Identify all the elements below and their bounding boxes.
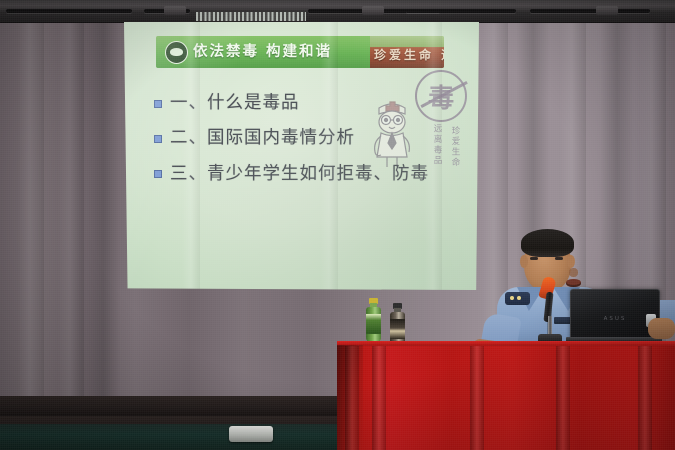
rail-tab — [362, 6, 384, 15]
slide-banner-slogan: 依法禁毒 构建和谐 — [193, 40, 332, 61]
slide-bullet-text: 三、青少年学生如何拒毒、防毒 — [170, 165, 429, 184]
lecture-photo-scene: 依法禁毒 构建和谐 珍爱生命 远离毒品 毒 珍爱生命 远离毒品 — [0, 0, 675, 450]
cloth-drape — [638, 346, 652, 450]
second-person-hand — [648, 318, 675, 339]
rail-tab — [164, 6, 186, 15]
floor-object — [229, 426, 273, 442]
dark-drink-bottle — [389, 303, 406, 344]
presenter-ear — [567, 255, 575, 268]
presenter-nose — [569, 268, 578, 277]
presenter-eye — [530, 257, 538, 260]
rail-slot — [6, 9, 132, 13]
cloth-drape — [556, 346, 570, 450]
epaulette-pip — [510, 296, 514, 300]
screen-crease — [424, 22, 442, 290]
square-bullet-icon — [154, 170, 162, 178]
projection-screen: 依法禁毒 构建和谐 珍爱生命 远离毒品 毒 珍爱生命 远离毒品 — [124, 22, 479, 290]
rail-tab — [596, 6, 618, 15]
square-bullet-icon — [154, 135, 162, 143]
screen-crease — [182, 22, 200, 290]
cloth-corner-shadow — [337, 345, 363, 450]
curtain-hooks — [196, 12, 306, 21]
screen-crease — [320, 22, 338, 290]
presenter-eye — [555, 257, 563, 260]
table-top-edge — [337, 341, 675, 346]
presenter-epaulette — [505, 292, 530, 305]
laptop-brand-logo: ASUS — [604, 316, 627, 322]
presenter-hair — [521, 229, 574, 257]
square-bullet-icon — [154, 100, 162, 108]
epaulette-pip — [517, 296, 521, 300]
bottle-label — [366, 314, 381, 334]
rail-slot — [530, 9, 650, 13]
green-tea-bottle — [365, 298, 382, 344]
rail-slot — [406, 9, 516, 13]
cloth-drape — [372, 346, 386, 450]
cloth-drape — [470, 346, 484, 450]
curtain-rail — [0, 0, 675, 23]
bottle-label — [390, 319, 405, 339]
red-table-cloth — [337, 341, 675, 450]
presenter-ear — [520, 255, 528, 268]
presenter-mouth — [566, 279, 581, 287]
